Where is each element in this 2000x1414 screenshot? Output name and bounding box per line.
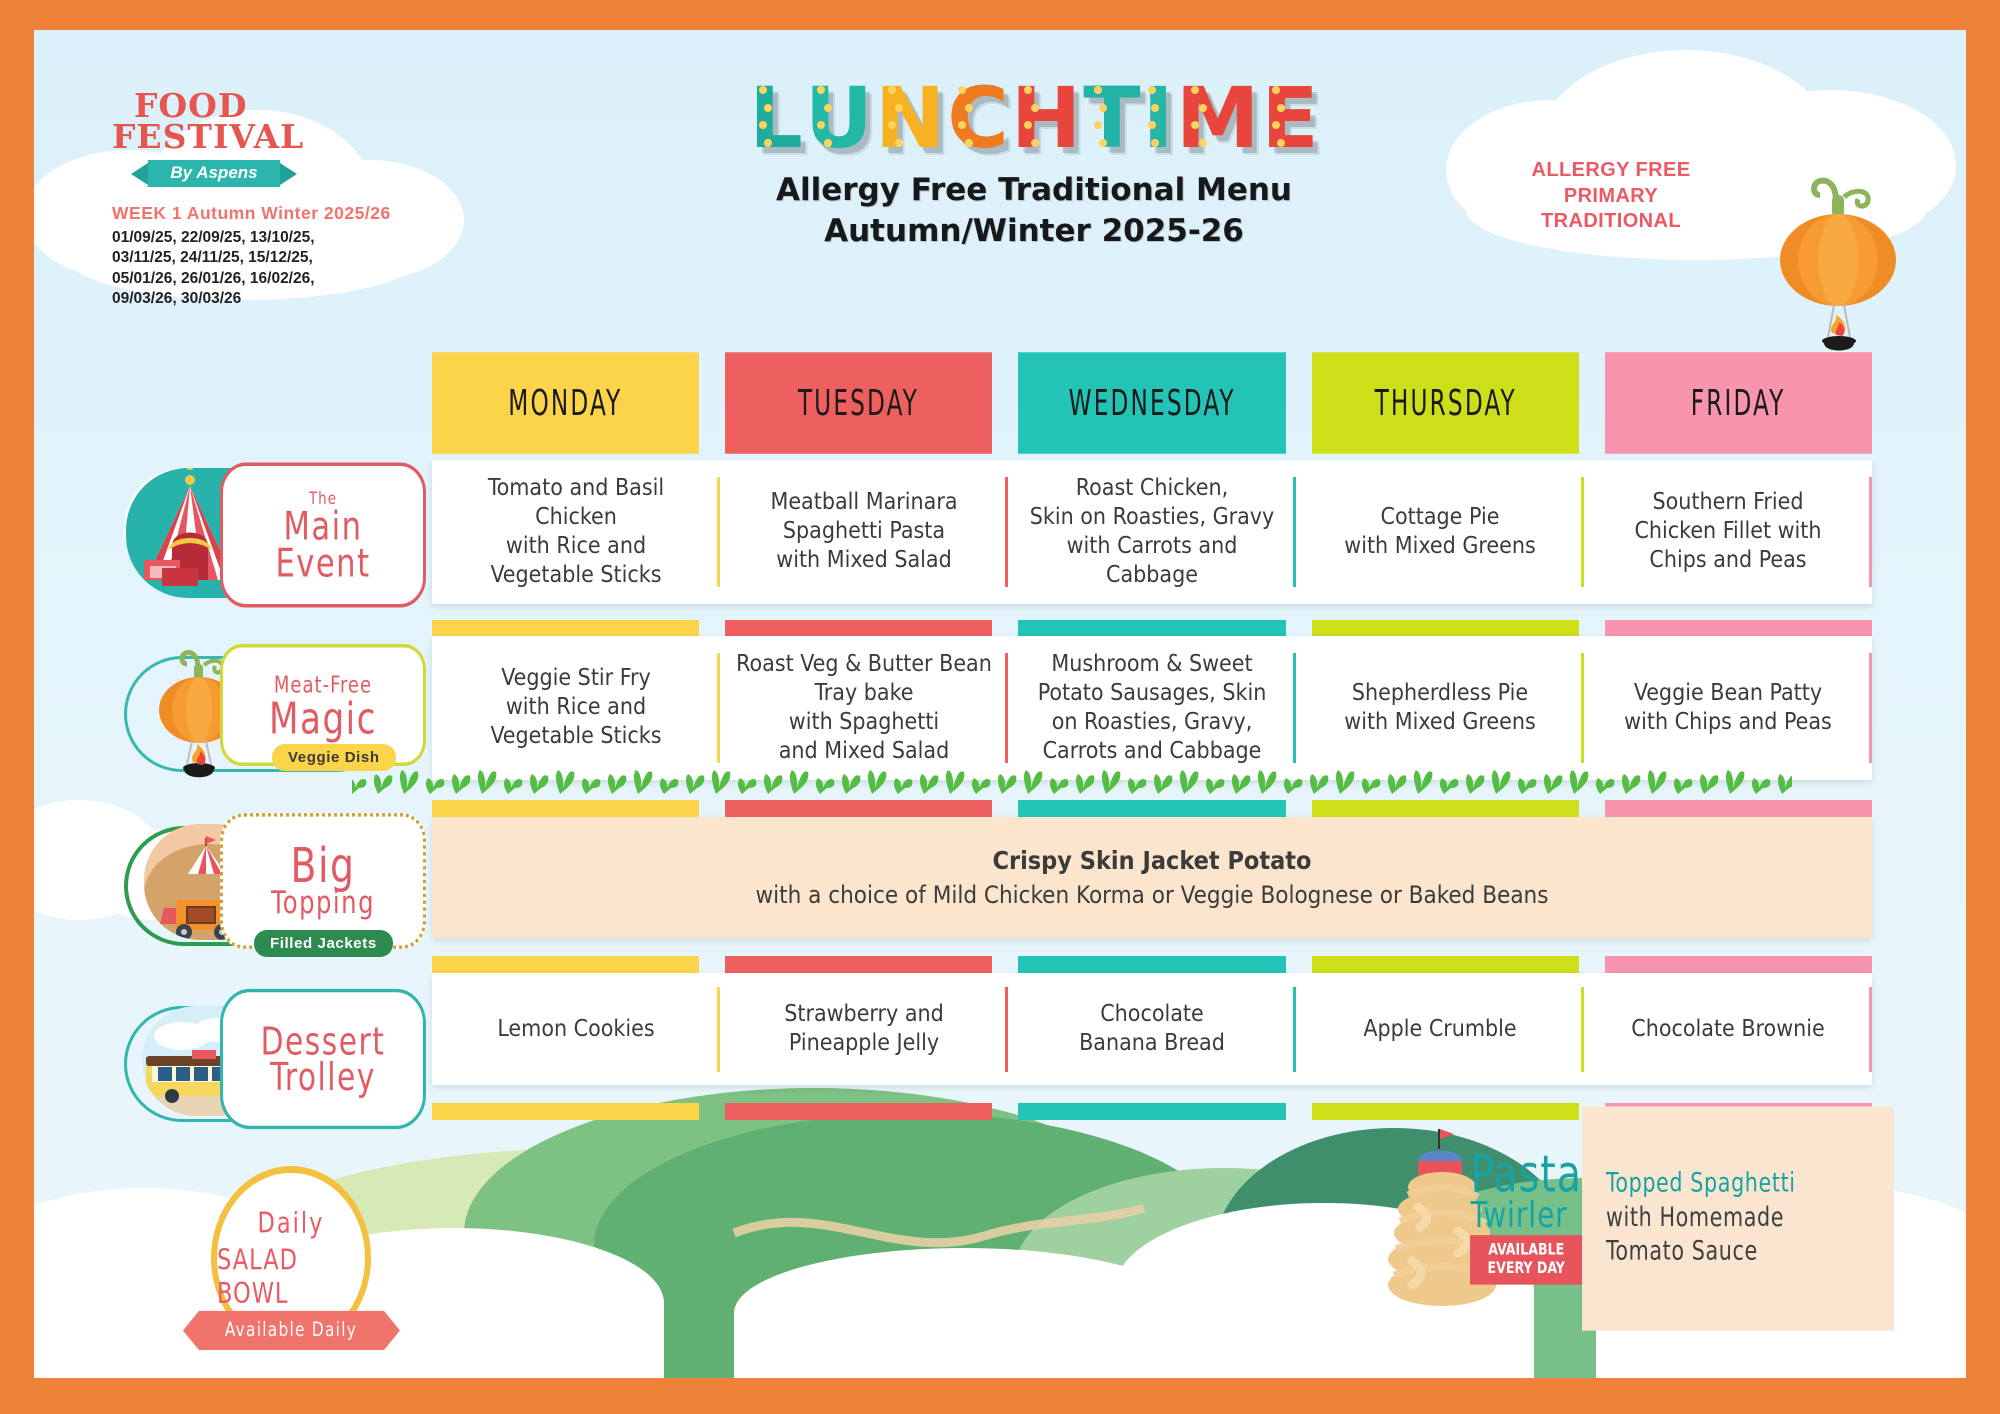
badge-big2-main-event: Event (275, 545, 370, 582)
menu-cell: Lemon Cookies (432, 973, 720, 1085)
badge-big-topping: Big Topping Filled Jackets (124, 820, 424, 970)
lunchtime-marquee-title: LUNCHTIME (634, 76, 1434, 160)
marquee-letter: H (1011, 76, 1081, 160)
marquee-letter: I (1143, 76, 1174, 160)
color-strip-cell (1018, 620, 1285, 637)
color-strip-cell (1605, 956, 1872, 973)
day-header-wednesday[interactable]: WEDNESDAY (1018, 352, 1285, 453)
menu-cell: Mushroom & Sweet Potato Sausages, Skin o… (1008, 636, 1296, 780)
cell-divider (1869, 653, 1872, 762)
color-strip-cell (1312, 620, 1579, 637)
subtitle-block: Allergy Free Traditional Menu Autumn/Win… (634, 170, 1434, 252)
color-strip-cell (432, 620, 699, 637)
badge-plaque-big-topping: Big Topping (220, 813, 426, 949)
badge-plaque-dessert: Dessert Trolley (220, 989, 426, 1129)
color-strip-2 (432, 800, 1872, 817)
subtitle-line-2: Autumn/Winter 2025-26 (634, 211, 1434, 252)
menu-cell-text: Cottage Pie with Mixed Greens (1344, 503, 1535, 561)
day-header-thursday[interactable]: THURSDAY (1312, 352, 1579, 453)
color-strip-cell (432, 1103, 699, 1120)
menu-cell-text: Southern Fried Chicken Fillet with Chips… (1634, 488, 1821, 575)
badge-big2-big-topping: Topping (271, 889, 375, 918)
pasta-desc-1: Topped Spaghetti (1606, 1168, 1870, 1202)
salad-line-1: Daily (258, 1206, 325, 1239)
menu-cell-text: Chocolate Banana Bread (1079, 1000, 1225, 1058)
menu-cell: Roast Chicken, Skin on Roasties, Gravy w… (1008, 460, 1296, 604)
badge-big2-dessert: Trolley (270, 1059, 376, 1095)
color-strip-cell (1312, 956, 1579, 973)
badge-dessert-trolley: Dessert Trolley (124, 998, 424, 1128)
color-strip-cell (1018, 956, 1285, 973)
cell-divider (1869, 477, 1872, 586)
menu-cell: Meatball Marinara Spaghetti Pasta with M… (720, 460, 1008, 604)
color-strip-cell (725, 956, 992, 973)
menu-board: FOOD FESTIVAL By Aspens WEEK 1 Autumn Wi… (34, 30, 1966, 1378)
menu-cell-text: Chocolate Brownie (1631, 1015, 1824, 1044)
menu-cell: Cottage Pie with Mixed Greens (1296, 460, 1584, 604)
week-dates: 01/09/25, 22/09/25, 13/10/25, 03/11/25, … (112, 228, 442, 310)
menu-cell: Southern Fried Chicken Fillet with Chips… (1584, 460, 1872, 604)
badge-big1-big-topping: Big (291, 843, 356, 889)
menu-cell-text: Apple Crumble (1363, 1015, 1516, 1044)
marquee-letter: C (947, 76, 1009, 160)
marquee-letter: T (1083, 76, 1140, 160)
pasta-availability-tag: AVAILABLE EVERY DAY (1470, 1235, 1582, 1284)
badge-big1-meat-free: Magic (269, 698, 377, 740)
salad-band: Available Daily (199, 1311, 384, 1350)
menu-cell-text: Lemon Cookies (497, 1015, 654, 1044)
menu-cell: Roast Veg & Butter Bean Tray bake with S… (720, 636, 1008, 780)
color-strip-cell (725, 620, 992, 637)
marquee-letter: U (805, 76, 873, 160)
menu-cell-text: Tomato and Basil Chicken with Rice and V… (488, 474, 664, 590)
day-header-label: FRIDAY (1691, 382, 1786, 423)
badge-tag-filled-jackets: Filled Jackets (254, 930, 393, 957)
marquee-letter: N (875, 76, 945, 160)
menu-cell-text: Shepherdless Pie with Mixed Greens (1344, 679, 1535, 737)
day-header-tuesday[interactable]: TUESDAY (725, 352, 992, 453)
day-header-friday[interactable]: FRIDAY (1605, 352, 1872, 453)
color-strip-cell (1018, 1103, 1285, 1120)
menu-cell: Tomato and Basil Chicken with Rice and V… (432, 460, 720, 604)
color-strip-cell (725, 800, 992, 817)
menu-cell: Veggie Bean Patty with Chips and Peas (1584, 636, 1872, 780)
jacket-potato-row: Crispy Skin Jacket Potato with a choice … (432, 817, 1872, 939)
pasta-twirler-badge: Pasta Twirler AVAILABLE EVERY DAY Topped… (1388, 1121, 1894, 1316)
marquee-letter: L (749, 76, 803, 160)
grass-band-icon (352, 762, 1792, 796)
menu-cell: Strawberry and Pineapple Jelly (720, 973, 1008, 1085)
color-strip-cell (432, 956, 699, 973)
day-header-label: MONDAY (509, 382, 623, 423)
menu-cell-text: Roast Veg & Butter Bean Tray bake with S… (736, 650, 992, 766)
badge-plaque-main-event: The Main Event (220, 463, 426, 608)
table-row-dessert: Lemon CookiesStrawberry and Pineapple Je… (432, 973, 1872, 1085)
pasta-name-2: Twirler (1470, 1199, 1582, 1233)
pasta-logo: Pasta Twirler AVAILABLE EVERY DAY (1470, 1106, 1582, 1330)
menu-cell: Shepherdless Pie with Mixed Greens (1296, 636, 1584, 780)
menu-cell: Apple Crumble (1296, 973, 1584, 1085)
pasta-name-1: Pasta (1470, 1152, 1582, 1199)
day-header-label: TUESDAY (798, 382, 919, 423)
day-header-monday[interactable]: MONDAY (432, 352, 699, 453)
table-row-meat-free: Veggie Stir Fry with Rice and Vegetable … (432, 636, 1872, 780)
cell-divider (1869, 987, 1872, 1072)
daily-salad-bowl-badge: Daily SALAD BOWL Available Daily (196, 1166, 386, 1350)
pumpkin-balloon-icon (1758, 155, 1918, 355)
salad-line-2: SALAD BOWL (217, 1243, 365, 1310)
pasta-desc-3: Tomato Sauce (1606, 1235, 1870, 1269)
color-strip-cell (432, 800, 699, 817)
color-strip-cell (1605, 620, 1872, 637)
day-header-label: WEDNESDAY (1068, 382, 1235, 423)
menu-cell-text: Veggie Stir Fry with Rice and Vegetable … (490, 664, 661, 751)
marquee-letter: E (1261, 76, 1318, 160)
day-header-label: THURSDAY (1374, 382, 1516, 423)
color-strip-1 (432, 620, 1872, 637)
jacket-potato-desc: with a choice of Mild Chicken Korma or V… (442, 878, 1862, 912)
menu-grid: MONDAYTUESDAYWEDNESDAYTHURSDAYFRIDAY Tom… (432, 360, 1872, 1163)
jacket-potato-title: Crispy Skin Jacket Potato (442, 843, 1862, 879)
color-strip-cell (1312, 800, 1579, 817)
badge-tag-veggie-dish: Veggie Dish (272, 744, 396, 771)
table-row-main-event: Tomato and Basil Chicken with Rice and V… (432, 460, 1872, 604)
brand-ribbon: By Aspens (148, 160, 280, 187)
pasta-description-box: Topped Spaghetti with Homemade Tomato Sa… (1582, 1106, 1894, 1330)
color-strip-cell (1018, 800, 1285, 817)
menu-cell-text: Veggie Bean Patty with Chips and Peas (1624, 679, 1832, 737)
week-label: WEEK 1 Autumn Winter 2025/26 (112, 203, 442, 225)
subtitle-line-1: Allergy Free Traditional Menu (634, 170, 1434, 211)
menu-cell: Veggie Stir Fry with Rice and Vegetable … (432, 636, 720, 780)
allergy-note: ALLERGY FREE PRIMARY TRADITIONAL (1496, 158, 1726, 235)
poster-frame: FOOD FESTIVAL By Aspens WEEK 1 Autumn Wi… (0, 0, 2000, 1414)
pasta-desc-2: with Homemade (1606, 1202, 1870, 1236)
color-strip-cell (1605, 800, 1872, 817)
badge-main-event: The Main Event (124, 468, 424, 598)
title-block: LUNCHTIME Allergy Free Traditional Menu … (634, 76, 1434, 252)
brand-line-2: FESTIVAL (112, 121, 442, 152)
menu-cell-text: Roast Chicken, Skin on Roasties, Gravy w… (1030, 474, 1275, 590)
menu-cell-text: Meatball Marinara Spaghetti Pasta with M… (770, 488, 957, 575)
menu-cell-text: Strawberry and Pineapple Jelly (784, 1000, 944, 1058)
menu-cell-text: Mushroom & Sweet Potato Sausages, Skin o… (1038, 650, 1267, 766)
color-strip-3 (432, 956, 1872, 973)
menu-cell: Chocolate Banana Bread (1008, 973, 1296, 1085)
color-strip-cell (725, 1103, 992, 1120)
brand-logo-block: FOOD FESTIVAL By Aspens WEEK 1 Autumn Wi… (112, 90, 442, 310)
day-header-row: MONDAYTUESDAYWEDNESDAYTHURSDAYFRIDAY (432, 360, 1872, 446)
menu-cell: Chocolate Brownie (1584, 973, 1872, 1085)
badge-meat-free: Meat-Free Magic Veggie Dish (124, 638, 424, 784)
marquee-letter: M (1176, 76, 1260, 160)
